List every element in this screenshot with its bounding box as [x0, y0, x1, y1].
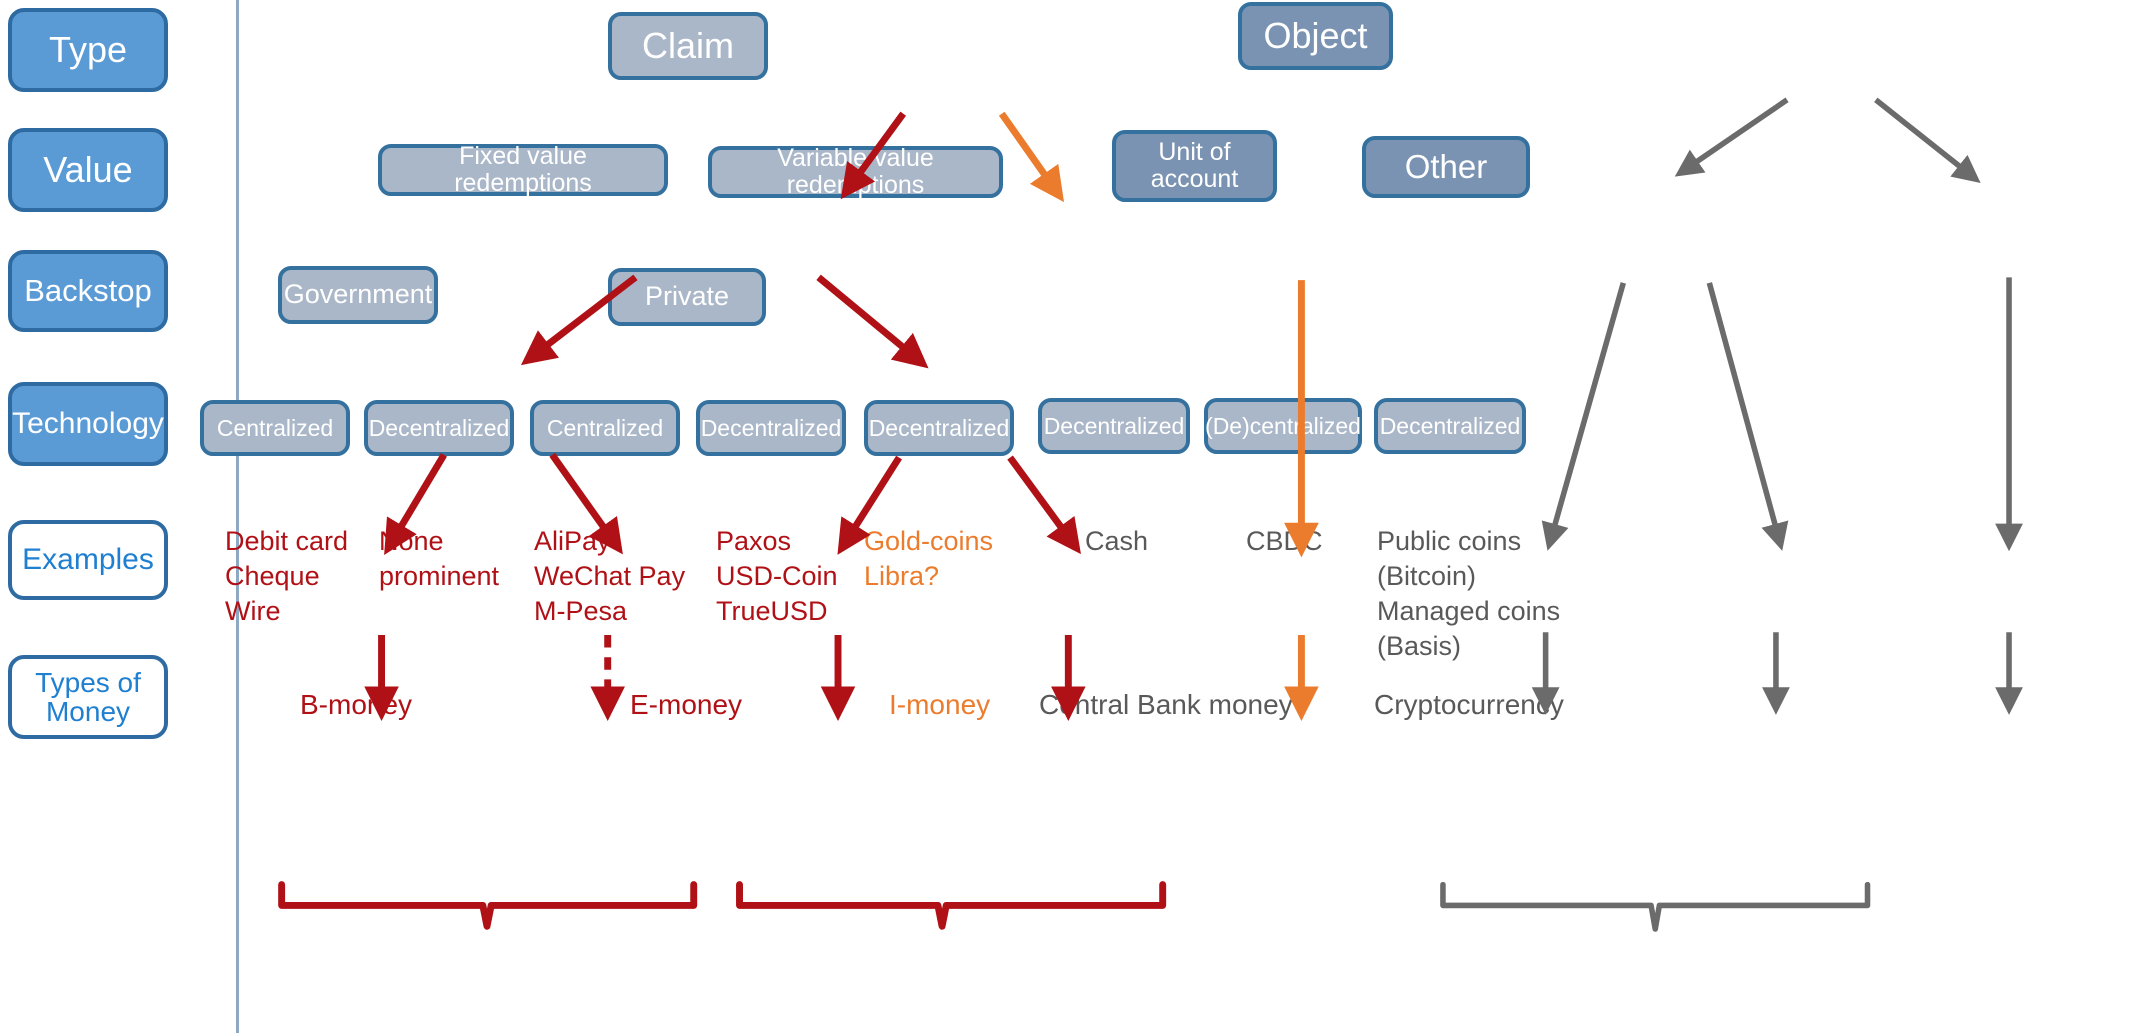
examples-cryptocurrency: Public coins (Bitcoin) Managed coins (Ba… — [1377, 524, 1560, 664]
examples-b-money-centralized: Debit card Cheque Wire — [225, 524, 348, 629]
arrow-unit-to-decentralized — [1551, 283, 1623, 538]
node-tech-centralized-private[interactable]: Centralized — [530, 400, 680, 456]
examples-i-money: Gold-coins Libra? — [864, 524, 993, 594]
node-tech-centralized-government[interactable]: Centralized — [200, 400, 350, 456]
examples-e-money-decentralized: Paxos USD-Coin TrueUSD — [716, 524, 838, 629]
brace-central-bank-money — [1443, 885, 1868, 929]
connector-layer — [0, 0, 2145, 1033]
examples-b-money-decentralized: None prominent — [379, 524, 499, 594]
row-label-examples[interactable]: Examples — [8, 520, 168, 600]
arrow-fixed-to-private — [819, 277, 916, 357]
money-type-e-money: E-money — [630, 687, 742, 723]
column-divider — [236, 0, 239, 1033]
money-type-i-money: I-money — [889, 687, 990, 723]
node-claim[interactable]: Claim — [608, 12, 768, 80]
examples-cash: Cash — [1085, 524, 1148, 559]
node-tech-decentralized-other[interactable]: Decentralized — [1374, 398, 1526, 454]
arrow-claim-to-variable — [1002, 114, 1055, 189]
arrow-private-to-decentralized — [1010, 458, 1071, 541]
node-unit-of-account[interactable]: Unit of account — [1112, 130, 1277, 202]
node-variable-value-redemptions[interactable]: Variable value redemptions — [708, 146, 1003, 198]
money-type-b-money: B-money — [300, 687, 412, 723]
node-tech-decentralized-private[interactable]: Decentralized — [696, 400, 846, 456]
row-label-backstop[interactable]: Backstop — [8, 250, 168, 332]
examples-e-money-centralized: AliPay WeChat Pay M-Pesa — [534, 524, 685, 629]
row-label-technology[interactable]: Technology — [8, 382, 168, 466]
examples-cbdc: CBDC — [1246, 524, 1323, 559]
arrow-object-to-other — [1876, 100, 1970, 175]
node-government[interactable]: Government — [278, 266, 438, 324]
row-label-types-of-money[interactable]: Types of Money — [8, 655, 168, 739]
money-type-cryptocurrency: Cryptocurrency — [1374, 687, 1564, 723]
node-other[interactable]: Other — [1362, 136, 1530, 198]
brace-e-money — [740, 885, 1163, 927]
node-tech-decentralized-government[interactable]: Decentralized — [364, 400, 514, 456]
node-tech-decentralized-variable[interactable]: Decentralized — [864, 400, 1014, 456]
node-private[interactable]: Private — [608, 268, 766, 326]
node-tech-decentralized-unit-of-account[interactable]: Decentralized — [1038, 398, 1190, 454]
row-label-type[interactable]: Type — [8, 8, 168, 92]
arrow-unit-to-de-centralized — [1709, 283, 1778, 538]
node-tech-de-centralized-unit-of-account[interactable]: (De)centralized — [1204, 398, 1362, 454]
brace-b-money — [282, 885, 694, 927]
node-fixed-value-redemptions[interactable]: Fixed value redemptions — [378, 144, 668, 196]
node-object[interactable]: Object — [1238, 2, 1393, 70]
arrow-object-to-unit-of-account — [1686, 100, 1787, 169]
row-label-value[interactable]: Value — [8, 128, 168, 212]
diagram-canvas: Type Value Backstop Technology Examples … — [0, 0, 2145, 1033]
money-type-central-bank-money: Central Bank money — [1039, 687, 1293, 723]
